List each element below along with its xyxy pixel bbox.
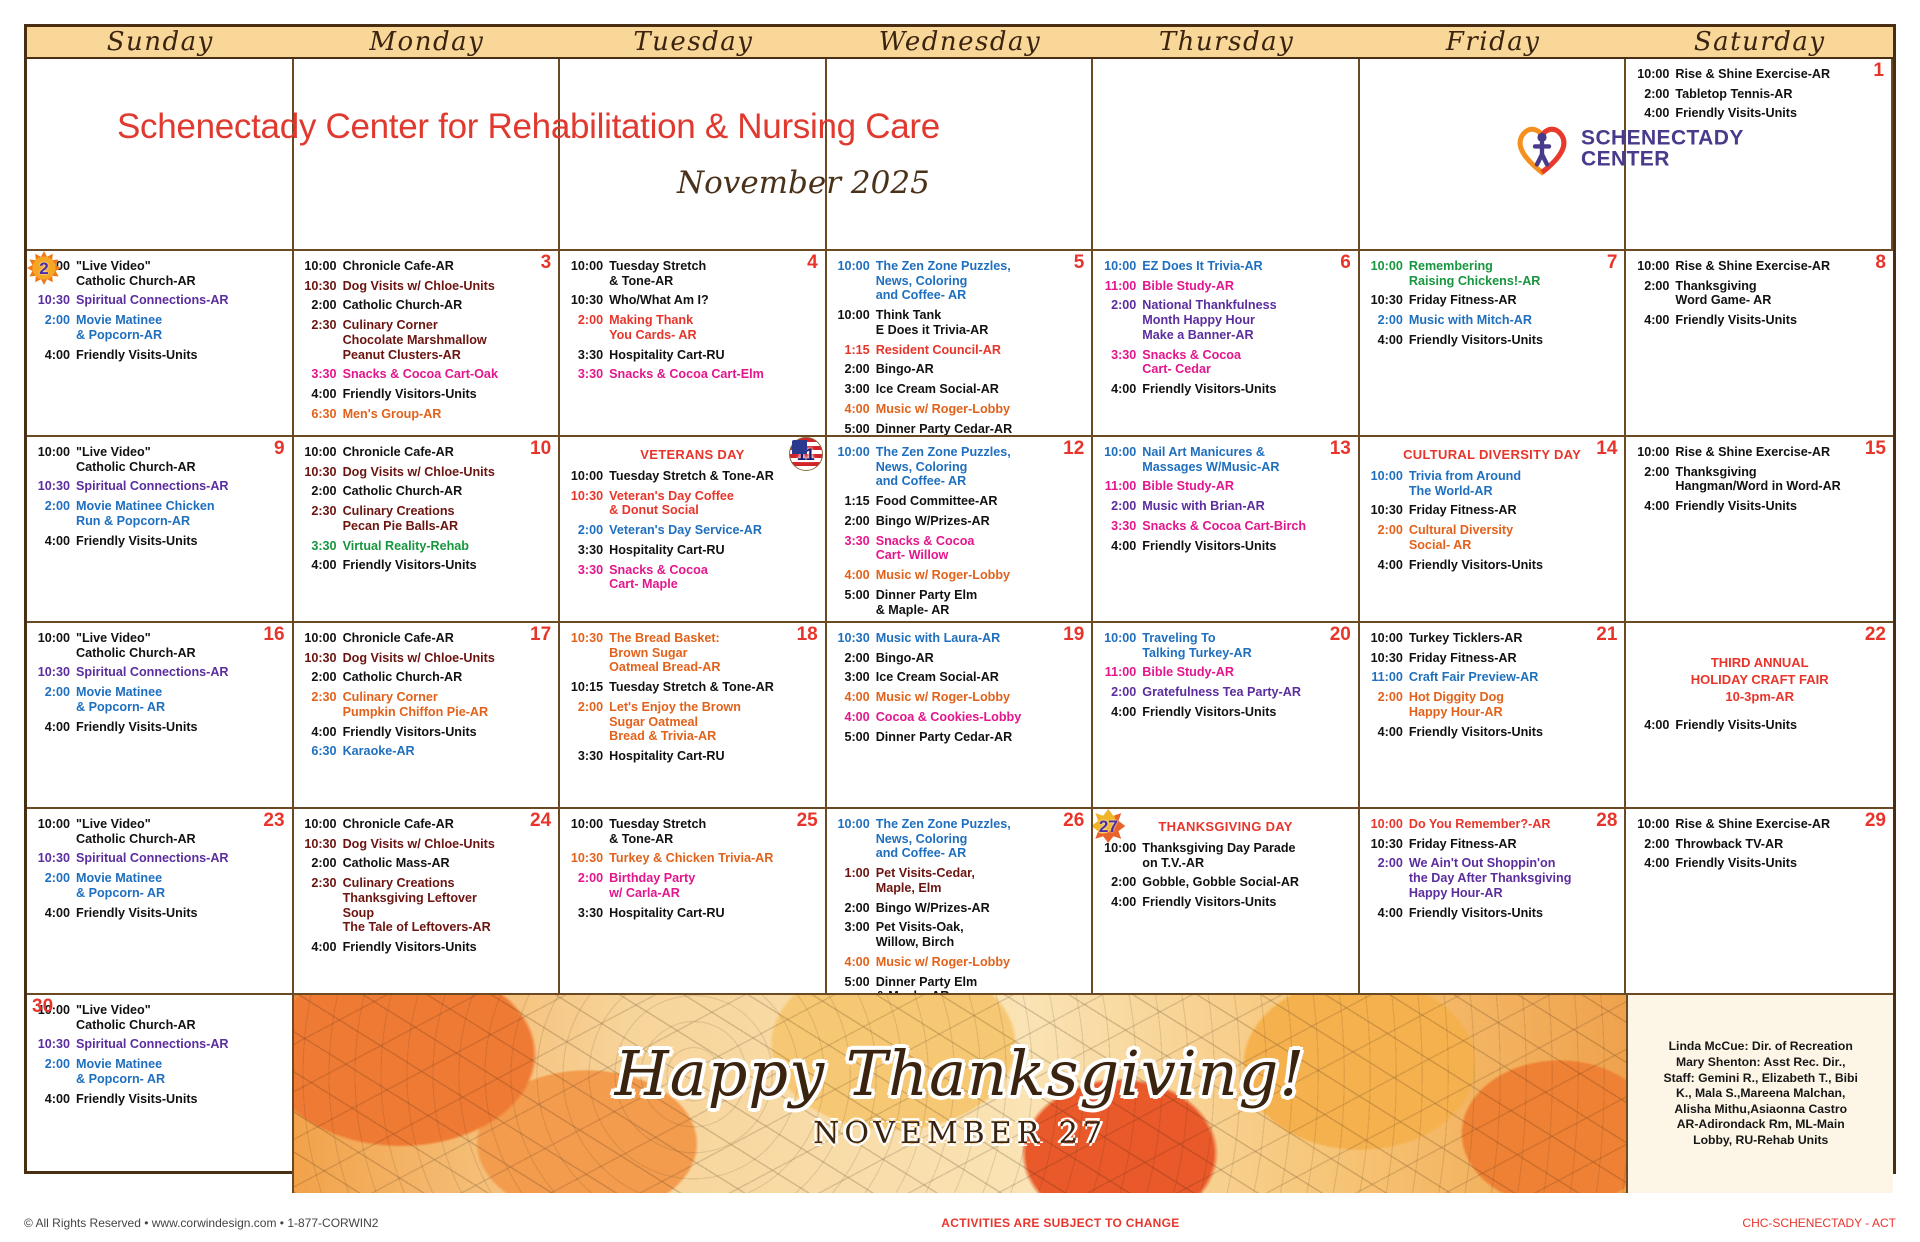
event-item[interactable]: 2:00Catholic Church-AR: [299, 298, 554, 313]
day-cell-15[interactable]: 1510:00Rise & Shine Exercise-AR2:00Thank…: [1626, 437, 1893, 621]
event-description: Tuesday Stretch& Tone-AR: [609, 259, 820, 288]
event-line: The Zen Zone Puzzles,: [876, 445, 1087, 460]
event-item[interactable]: 2:00ThanksgivingHangman/Word in Word-AR: [1631, 465, 1888, 494]
event-item[interactable]: 4:00Friendly Visits-Units: [32, 534, 287, 549]
event-item[interactable]: 3:30Virtual Reality-Rehab: [299, 539, 554, 554]
event-line: Dinner Party Cedar-AR: [876, 422, 1087, 435]
event-item[interactable]: 2:00Movie Matinee ChickenRun & Popcorn-A…: [32, 499, 287, 528]
event-item[interactable]: 10:00"Live Video"Catholic Church-AR: [32, 259, 287, 288]
event-item[interactable]: 4:00Music w/ Roger-Lobby: [832, 402, 1087, 417]
event-item[interactable]: 4:00Friendly Visitors-Units: [1098, 705, 1353, 720]
event-item[interactable]: 3:30Hospitality Cart-RU: [565, 348, 820, 363]
event-item[interactable]: 4:00Friendly Visitors-Units: [1098, 539, 1353, 554]
event-time: 4:00: [1098, 705, 1142, 720]
calendar-week-2: 910:00"Live Video"Catholic Church-AR10:3…: [27, 437, 1893, 623]
event-line: Dinner Party Elm: [876, 975, 1087, 990]
event-item[interactable]: 10:30Dog Visits w/ Chloe-Units: [299, 279, 554, 294]
event-item[interactable]: 10:00Rise & Shine Exercise-AR: [1631, 445, 1888, 460]
event-description: Turkey & Chicken Trivia-AR: [609, 851, 820, 866]
day-cell-20[interactable]: 2010:00Traveling ToTalking Turkey-AR11:0…: [1093, 623, 1360, 807]
day-cell-18[interactable]: 1810:30The Bread Basket:Brown SugarOatme…: [560, 623, 827, 807]
event-item[interactable]: 2:00Catholic Church-AR: [299, 484, 554, 499]
event-line: Music with Laura-AR: [876, 631, 1087, 646]
event-description: The Zen Zone Puzzles,News, Coloringand C…: [876, 259, 1087, 303]
event-line: Bread & Trivia-AR: [609, 729, 820, 744]
event-time: 4:00: [299, 558, 343, 573]
event-description: Virtual Reality-Rehab: [343, 539, 554, 554]
event-time: 4:00: [1365, 333, 1409, 348]
event-item[interactable]: 2:00Bingo W/Prizes-AR: [832, 901, 1087, 916]
event-line: Tuesday Stretch & Tone-AR: [609, 469, 820, 484]
event-item[interactable]: 10:30Spiritual Connections-AR: [32, 1037, 287, 1052]
logo-line-2: CENTER: [1581, 148, 1744, 169]
calendar-week-1: 210:00"Live Video"Catholic Church-AR10:3…: [27, 251, 1893, 437]
day-cell-13[interactable]: 1310:00Nail Art Manicures &Massages W/Mu…: [1093, 437, 1360, 621]
event-description: Hospitality Cart-RU: [609, 749, 820, 764]
event-time: 10:00: [1365, 259, 1409, 288]
day-cell-29[interactable]: 2910:00Rise & Shine Exercise-AR2:00Throw…: [1626, 809, 1893, 993]
event-item[interactable]: 2:00Bingo-AR: [832, 362, 1087, 377]
event-item[interactable]: 10:15Tuesday Stretch & Tone-AR: [565, 680, 820, 695]
event-item[interactable]: 10:00Traveling ToTalking Turkey-AR: [1098, 631, 1353, 660]
event-time: 3:30: [565, 906, 609, 921]
event-item[interactable]: 10:00Chronicle Cafe-AR: [299, 445, 554, 460]
event-item[interactable]: 2:30Culinary CornerChocolate Marshmallow…: [299, 318, 554, 362]
day-cell-8[interactable]: 810:00Rise & Shine Exercise-AR2:00Thanks…: [1626, 251, 1893, 435]
event-line: Friendly Visits-Units: [1675, 718, 1888, 733]
event-item[interactable]: 3:00Ice Cream Social-AR: [832, 670, 1087, 685]
event-time: 10:30: [565, 489, 609, 518]
event-line: Friendly Visits-Units: [76, 348, 287, 363]
event-line: Pet Visits-Cedar,: [876, 866, 1087, 881]
event-item[interactable]: 2:00Movie Matinee& Popcorn-AR: [32, 313, 287, 342]
day-number: 7: [1607, 253, 1618, 272]
event-item[interactable]: 4:00Music w/ Roger-Lobby: [832, 568, 1087, 583]
event-description: Music with Laura-AR: [876, 631, 1087, 646]
event-description: Movie Matinee& Popcorn- AR: [76, 1057, 287, 1086]
event-description: Friendly Visits-Units: [1675, 499, 1888, 514]
event-list: 10:00Trivia from AroundThe World-AR10:30…: [1365, 469, 1620, 572]
event-line: Pumpkin Chiffon Pie-AR: [343, 705, 554, 720]
event-item[interactable]: 4:00Friendly Visitors-Units: [1365, 725, 1620, 740]
event-item[interactable]: 10:30Spiritual Connections-AR: [32, 665, 287, 680]
event-description: Friday Fitness-AR: [1409, 837, 1620, 852]
day-cell-30[interactable]: 3010:00"Live Video"Catholic Church-AR10:…: [27, 995, 294, 1193]
event-item[interactable]: 10:00The Zen Zone Puzzles,News, Coloring…: [832, 259, 1087, 303]
event-item[interactable]: 10:00Rise & Shine Exercise-AR: [1631, 817, 1888, 832]
event-item[interactable]: 2:00Music with Brian-AR: [1098, 499, 1353, 514]
day-number: 28: [1596, 811, 1617, 830]
event-item[interactable]: 4:00Music w/ Roger-Lobby: [832, 955, 1087, 970]
event-item[interactable]: 3:30Snacks & CocoaCart- Cedar: [1098, 348, 1353, 377]
event-description: Friendly Visitors-Units: [1142, 895, 1353, 910]
event-description: "Live Video"Catholic Church-AR: [76, 259, 287, 288]
day-number: 26: [1063, 811, 1084, 830]
day-cell-28[interactable]: 2810:00Do You Remember?-AR10:30Friday Fi…: [1360, 809, 1627, 993]
event-description: Friendly Visitors-Units: [1409, 558, 1620, 573]
event-description: Let's Enjoy the BrownSugar OatmealBread …: [609, 700, 820, 744]
event-item[interactable]: 4:00Friendly Visits-Units: [1631, 106, 1886, 121]
event-item[interactable]: 2:00Music with Mitch-AR: [1365, 313, 1620, 328]
day-cell-3[interactable]: 310:00Chronicle Cafe-AR10:30Dog Visits w…: [294, 251, 561, 435]
event-line: Month Happy Hour: [1142, 313, 1353, 328]
event-line: Spiritual Connections-AR: [76, 293, 287, 308]
event-line: Friendly Visits-Units: [1675, 313, 1888, 328]
event-line: Karaoke-AR: [343, 744, 554, 759]
event-item[interactable]: 4:00Music w/ Roger-Lobby: [832, 690, 1087, 705]
event-item[interactable]: 2:00Making ThankYou Cards- AR: [565, 313, 820, 342]
event-item[interactable]: 2:00Bingo-AR: [832, 651, 1087, 666]
event-time: 2:30: [299, 690, 343, 719]
event-item[interactable]: 10:00The Zen Zone Puzzles,News, Coloring…: [832, 817, 1087, 861]
event-item[interactable]: 4:00Friendly Visitors-Units: [1365, 558, 1620, 573]
footer-notice: ACTIVITIES ARE SUBJECT TO CHANGE: [941, 1216, 1179, 1230]
event-item[interactable]: 3:30Snacks & Cocoa Cart-Oak: [299, 367, 554, 382]
event-item[interactable]: 10:00Think TankE Does it Trivia-AR: [832, 308, 1087, 337]
event-item[interactable]: 3:30Hospitality Cart-RU: [565, 749, 820, 764]
day-cell-14[interactable]: 14CULTURAL DIVERSITY DAY10:00Trivia from…: [1360, 437, 1627, 621]
event-description: Hospitality Cart-RU: [609, 348, 820, 363]
event-item[interactable]: 10:00Tuesday Stretch & Tone-AR: [565, 469, 820, 484]
event-item[interactable]: 4:00Friendly Visits-Units: [32, 906, 287, 921]
event-time: 3:30: [565, 367, 609, 382]
day-cell-12[interactable]: 1210:00The Zen Zone Puzzles,News, Colori…: [827, 437, 1094, 621]
event-line: News, Coloring: [876, 460, 1087, 475]
event-item[interactable]: 2:00National ThankfulnessMonth Happy Hou…: [1098, 298, 1353, 342]
event-line: Snacks & Cocoa Cart-Birch: [1142, 519, 1353, 534]
event-time: 10:30: [565, 631, 609, 675]
event-item[interactable]: 11:00Craft Fair Preview-AR: [1365, 670, 1620, 685]
event-description: Veteran's Day Coffee& Donut Social: [609, 489, 820, 518]
event-time: 2:00: [565, 871, 609, 900]
event-item[interactable]: 6:30Karaoke-AR: [299, 744, 554, 759]
event-description: Friendly Visits-Units: [76, 720, 287, 735]
day-cell-21[interactable]: 2110:00Turkey Ticklers-AR10:30Friday Fit…: [1360, 623, 1627, 807]
event-item[interactable]: 1:15Food Committee-AR: [832, 494, 1087, 509]
event-item[interactable]: 2:30Culinary CreationsPecan Pie Balls-AR: [299, 504, 554, 533]
event-description: Rise & Shine Exercise-AR: [1675, 445, 1888, 460]
event-item[interactable]: 10:00Turkey Ticklers-AR: [1365, 631, 1620, 646]
event-item[interactable]: 10:00"Live Video"Catholic Church-AR: [32, 631, 287, 660]
day-cell-9[interactable]: 910:00"Live Video"Catholic Church-AR10:3…: [27, 437, 294, 621]
event-line: Catholic Church-AR: [76, 274, 287, 289]
event-item[interactable]: 5:00Dinner Party Cedar-AR: [832, 730, 1087, 745]
event-list: 10:30The Bread Basket:Brown SugarOatmeal…: [565, 631, 820, 764]
day-cell-23[interactable]: 2310:00"Live Video"Catholic Church-AR10:…: [27, 809, 294, 993]
event-item[interactable]: 10:00Nail Art Manicures &Massages W/Musi…: [1098, 445, 1353, 474]
event-item[interactable]: 10:30Dog Visits w/ Chloe-Units: [299, 837, 554, 852]
event-description: Think TankE Does it Trivia-AR: [876, 308, 1087, 337]
event-description: Culinary CreationsPecan Pie Balls-AR: [343, 504, 554, 533]
event-description: Friendly Visits-Units: [76, 1092, 287, 1107]
event-line: Think Tank: [876, 308, 1087, 323]
event-line: Trivia from Around: [1409, 469, 1620, 484]
event-time: 4:00: [32, 1092, 76, 1107]
event-description: Friday Fitness-AR: [1409, 651, 1620, 666]
event-line: Spiritual Connections-AR: [76, 851, 287, 866]
event-item[interactable]: 10:30Spiritual Connections-AR: [32, 479, 287, 494]
day-cell-4[interactable]: 410:00Tuesday Stretch& Tone-AR10:30Who/W…: [560, 251, 827, 435]
event-item[interactable]: 10:30Spiritual Connections-AR: [32, 293, 287, 308]
event-item[interactable]: 4:00Friendly Visits-Units: [32, 720, 287, 735]
event-description: Hospitality Cart-RU: [609, 543, 820, 558]
event-item[interactable]: 2:30Culinary CornerPumpkin Chiffon Pie-A…: [299, 690, 554, 719]
event-line: Do You Remember?-AR: [1409, 817, 1620, 832]
event-line: Bible Study-AR: [1142, 279, 1353, 294]
event-line: Birthday Party: [609, 871, 820, 886]
event-item[interactable]: 4:00Friendly Visitors-Units: [299, 725, 554, 740]
event-item[interactable]: 10:00Tuesday Stretch& Tone-AR: [565, 259, 820, 288]
day-number: 3: [541, 253, 552, 272]
event-item[interactable]: 4:00Friendly Visits-Units: [1631, 718, 1888, 733]
event-list: 10:00The Zen Zone Puzzles,News, Coloring…: [832, 259, 1087, 435]
event-description: Rise & Shine Exercise-AR: [1675, 259, 1888, 274]
event-item[interactable]: 3:30Snacks & Cocoa Cart-Birch: [1098, 519, 1353, 534]
event-item[interactable]: 10:30Who/What Am I?: [565, 293, 820, 308]
event-line: Pecan Pie Balls-AR: [343, 519, 554, 534]
day-cell-24[interactable]: 2410:00Chronicle Cafe-AR10:30Dog Visits …: [294, 809, 561, 993]
event-list: 10:00Nail Art Manicures &Massages W/Musi…: [1098, 445, 1353, 553]
event-item[interactable]: 4:00Friendly Visits-Units: [1631, 856, 1888, 871]
event-item[interactable]: 1:15Resident Council-AR: [832, 343, 1087, 358]
day-cell-25[interactable]: 2510:00Tuesday Stretch& Tone-AR10:30Turk…: [560, 809, 827, 993]
event-line: Friday Fitness-AR: [1409, 293, 1620, 308]
event-line: Ice Cream Social-AR: [876, 382, 1087, 397]
event-time: 4:00: [299, 940, 343, 955]
event-item[interactable]: 6:30Men's Group-AR: [299, 407, 554, 422]
event-list: 10:00Thanksgiving Day Paradeon T.V.-AR2:…: [1098, 841, 1353, 910]
event-line: and Coffee- AR: [876, 846, 1087, 861]
event-item[interactable]: 4:00Friendly Visitors-Units: [1098, 382, 1353, 397]
event-item[interactable]: 4:00Friendly Visits-Units: [1631, 313, 1888, 328]
event-item[interactable]: 10:00Tuesday Stretch& Tone-AR: [565, 817, 820, 846]
event-time: 10:30: [565, 293, 609, 308]
event-item[interactable]: 10:00Chronicle Cafe-AR: [299, 259, 554, 274]
event-item[interactable]: 2:00Bingo W/Prizes-AR: [832, 514, 1087, 529]
event-line: Craft Fair Preview-AR: [1409, 670, 1620, 685]
event-time: 10:00: [1365, 469, 1409, 498]
event-description: Friendly Visits-Units: [76, 534, 287, 549]
event-list: 10:00RememberingRaising Chickens!-AR10:3…: [1365, 259, 1620, 348]
event-line: Friendly Visitors-Units: [1409, 906, 1620, 921]
day-cell-5[interactable]: 510:00The Zen Zone Puzzles,News, Colorin…: [827, 251, 1094, 435]
event-item[interactable]: 10:30Dog Visits w/ Chloe-Units: [299, 651, 554, 666]
footer-code: CHC-SCHENECTADY - ACT: [1742, 1216, 1896, 1230]
day-cell-10[interactable]: 1010:00Chronicle Cafe-AR10:30Dog Visits …: [294, 437, 561, 621]
event-line: Traveling To: [1142, 631, 1353, 646]
event-item[interactable]: 10:00Rise & Shine Exercise-AR: [1631, 259, 1888, 274]
event-item[interactable]: 10:00Rise & Shine Exercise-AR: [1631, 67, 1886, 82]
event-item[interactable]: 11:00Bible Study-AR: [1098, 279, 1353, 294]
event-description: Spiritual Connections-AR: [76, 293, 287, 308]
event-item[interactable]: 2:00Movie Matinee& Popcorn- AR: [32, 1057, 287, 1086]
event-time: 5:00: [832, 588, 876, 617]
event-line: Music w/ Roger-Lobby: [876, 402, 1087, 417]
event-time: 10:30: [32, 1037, 76, 1052]
event-item[interactable]: 5:00Dinner Party Cedar-AR: [832, 422, 1087, 435]
event-item[interactable]: 10:00"Live Video"Catholic Church-AR: [32, 817, 287, 846]
event-item[interactable]: 3:00Pet Visits-Oak,Willow, Birch: [832, 920, 1087, 949]
event-time: 10:15: [565, 680, 609, 695]
event-item[interactable]: 10:30Music with Laura-AR: [832, 631, 1087, 646]
event-item[interactable]: 10:00Trivia from AroundThe World-AR: [1365, 469, 1620, 498]
event-line: Veteran's Day Service-AR: [609, 523, 820, 538]
event-item[interactable]: 10:30Friday Fitness-AR: [1365, 293, 1620, 308]
event-line: Hangman/Word in Word-AR: [1675, 479, 1888, 494]
event-item[interactable]: 4:00Friendly Visits-Units: [32, 1092, 287, 1107]
event-time: 10:30: [299, 837, 343, 852]
event-time: 3:00: [832, 920, 876, 949]
event-time: 10:00: [1098, 259, 1142, 274]
event-item[interactable]: 2:00Movie Matinee& Popcorn- AR: [32, 685, 287, 714]
event-item[interactable]: 10:00Chronicle Cafe-AR: [299, 817, 554, 832]
day-banner: THANKSGIVING DAY: [1098, 819, 1353, 834]
event-line: Spiritual Connections-AR: [76, 665, 287, 680]
event-item[interactable]: 10:00RememberingRaising Chickens!-AR: [1365, 259, 1620, 288]
event-item[interactable]: 2:00Gratefulness Tea Party-AR: [1098, 685, 1353, 700]
event-item[interactable]: 4:00Friendly Visitors-Units: [299, 558, 554, 573]
calendar-page: SundayMondayTuesdayWednesdayThursdayFrid…: [0, 0, 1920, 1242]
event-item[interactable]: 10:00Do You Remember?-AR: [1365, 817, 1620, 832]
event-item[interactable]: 10:30Turkey & Chicken Trivia-AR: [565, 851, 820, 866]
event-time: 4:00: [32, 534, 76, 549]
day-cell-26[interactable]: 2610:00The Zen Zone Puzzles,News, Colori…: [827, 809, 1094, 993]
event-description: Friendly Visitors-Units: [1142, 539, 1353, 554]
event-item[interactable]: 10:00EZ Does It Trivia-AR: [1098, 259, 1353, 274]
event-time: 2:00: [1631, 87, 1675, 102]
event-line: Hospitality Cart-RU: [609, 348, 820, 363]
event-item[interactable]: 2:00Tabletop Tennis-AR: [1631, 87, 1886, 102]
event-item[interactable]: 10:00The Zen Zone Puzzles,News, Coloring…: [832, 445, 1087, 489]
thanksgiving-date: NOVEMBER 27: [813, 1116, 1107, 1151]
event-line: Culinary Creations: [343, 876, 554, 891]
day-banner: CULTURAL DIVERSITY DAY: [1365, 447, 1620, 462]
event-time: 2:00: [1631, 465, 1675, 494]
event-item[interactable]: 4:00Friendly Visitors-Units: [299, 387, 554, 402]
event-item[interactable]: 5:00Dinner Party Elm& Maple- AR: [832, 588, 1087, 617]
event-item[interactable]: 4:00Friendly Visits-Units: [32, 348, 287, 363]
staff-credit-line: Mary Shenton: Asst Rec. Dir.,: [1664, 1055, 1858, 1071]
event-line: Snacks & Cocoa: [876, 534, 1087, 549]
event-item[interactable]: 2:00Catholic Mass-AR: [299, 856, 554, 871]
event-line: The World-AR: [1409, 484, 1620, 499]
event-line: Friendly Visitors-Units: [1409, 558, 1620, 573]
event-line: Movie Matinee: [76, 871, 287, 886]
event-item[interactable]: 10:00"Live Video"Catholic Church-AR: [32, 445, 287, 474]
event-item[interactable]: 2:00Let's Enjoy the BrownSugar OatmealBr…: [565, 700, 820, 744]
event-item[interactable]: 4:00Friendly Visitors-Units: [1098, 895, 1353, 910]
event-item[interactable]: 1:00Pet Visits-Cedar,Maple, Elm: [832, 866, 1087, 895]
event-line: The Zen Zone Puzzles,: [876, 817, 1087, 832]
event-line: Bingo W/Prizes-AR: [876, 901, 1087, 916]
event-item[interactable]: 2:00We Ain't Out Shoppin'onthe Day After…: [1365, 856, 1620, 900]
event-description: Bingo-AR: [876, 651, 1087, 666]
event-item[interactable]: 4:00Friendly Visitors-Units: [299, 940, 554, 955]
event-item[interactable]: 2:00ThanksgivingWord Game- AR: [1631, 279, 1888, 308]
event-item[interactable]: 10:30The Bread Basket:Brown SugarOatmeal…: [565, 631, 820, 675]
event-line: Happy Hour-AR: [1409, 886, 1620, 901]
event-item[interactable]: 10:30Dog Visits w/ Chloe-Units: [299, 465, 554, 480]
day-number: 6: [1340, 253, 1351, 272]
event-item[interactable]: 2:00Hot Diggity DogHappy Hour-AR: [1365, 690, 1620, 719]
day-cell-22[interactable]: 22THIRD ANNUALHOLIDAY CRAFT FAIR10-3pm-A…: [1626, 623, 1893, 807]
event-item[interactable]: 3:30Snacks & CocoaCart- Willow: [832, 534, 1087, 563]
event-line: "Live Video": [76, 817, 287, 832]
event-item[interactable]: 2:00Movie Matinee& Popcorn- AR: [32, 871, 287, 900]
event-item[interactable]: 3:30Snacks & CocoaCart- Maple: [565, 563, 820, 592]
event-time: 4:00: [32, 720, 76, 735]
event-line: Friendly Visits-Units: [76, 906, 287, 921]
event-item[interactable]: 2:00Cultural DiversitySocial- AR: [1365, 523, 1620, 552]
event-description: Catholic Mass-AR: [343, 856, 554, 871]
event-item[interactable]: 11:00Bible Study-AR: [1098, 665, 1353, 680]
event-time: 1:00: [832, 866, 876, 895]
day-cell-6[interactable]: 610:00EZ Does It Trivia-AR11:00Bible Stu…: [1093, 251, 1360, 435]
event-item[interactable]: 10:30Friday Fitness-AR: [1365, 503, 1620, 518]
event-item[interactable]: 10:00"Live Video"Catholic Church-AR: [32, 1003, 287, 1032]
day-cell-27[interactable]: 27THANKSGIVING DAY10:00Thanksgiving Day …: [1093, 809, 1360, 993]
day-cell-2[interactable]: 210:00"Live Video"Catholic Church-AR10:3…: [27, 251, 294, 435]
event-line: Brown Sugar: [609, 646, 820, 661]
event-item[interactable]: 3:00Ice Cream Social-AR: [832, 382, 1087, 397]
event-list: 10:00Rise & Shine Exercise-AR2:00Throwba…: [1631, 817, 1888, 871]
day-cell-16[interactable]: 1610:00"Live Video"Catholic Church-AR10:…: [27, 623, 294, 807]
event-description: RememberingRaising Chickens!-AR: [1409, 259, 1620, 288]
event-item[interactable]: 2:00Veteran's Day Service-AR: [565, 523, 820, 538]
event-line: Friendly Visits-Units: [1675, 499, 1888, 514]
event-item[interactable]: 10:30Veteran's Day Coffee& Donut Social: [565, 489, 820, 518]
event-item[interactable]: 2:00Catholic Church-AR: [299, 670, 554, 685]
day-number: 10: [530, 439, 551, 458]
event-item[interactable]: 4:00Friendly Visits-Units: [1631, 499, 1888, 514]
event-line: Music w/ Roger-Lobby: [876, 690, 1087, 705]
event-description: Craft Fair Preview-AR: [1409, 670, 1620, 685]
event-time: 10:30: [299, 465, 343, 480]
event-item[interactable]: 11:00Bible Study-AR: [1098, 479, 1353, 494]
event-item[interactable]: 4:00Friendly Visitors-Units: [1365, 333, 1620, 348]
day-cell-7[interactable]: 710:00RememberingRaising Chickens!-AR10:…: [1360, 251, 1627, 435]
day-cell-19[interactable]: 1910:30Music with Laura-AR2:00Bingo-AR3:…: [827, 623, 1094, 807]
day-number: 15: [1865, 439, 1886, 458]
event-item[interactable]: 10:30Spiritual Connections-AR: [32, 851, 287, 866]
event-item[interactable]: 3:30Hospitality Cart-RU: [565, 906, 820, 921]
event-line: Movie Matinee: [76, 1057, 287, 1072]
event-line: News, Coloring: [876, 274, 1087, 289]
event-item[interactable]: 2:30Culinary CreationsThanksgiving Lefto…: [299, 876, 554, 935]
event-line: Cart- Cedar: [1142, 362, 1353, 377]
event-time: 3:30: [1098, 519, 1142, 534]
event-item[interactable]: 10:30Friday Fitness-AR: [1365, 651, 1620, 666]
event-item[interactable]: 5:00Dinner Party Elm& Maple- AR: [832, 975, 1087, 993]
event-description: Music with Brian-AR: [1142, 499, 1353, 514]
day-cell-17[interactable]: 1710:00Chronicle Cafe-AR10:30Dog Visits …: [294, 623, 561, 807]
event-item[interactable]: 4:00Cocoa & Cookies-Lobby: [832, 710, 1087, 725]
event-item[interactable]: 2:00Gobble, Gobble Social-AR: [1098, 875, 1353, 890]
event-description: "Live Video"Catholic Church-AR: [76, 817, 287, 846]
event-item[interactable]: 10:00Thanksgiving Day Paradeon T.V.-AR: [1098, 841, 1353, 870]
event-line: Thanksgiving: [1675, 465, 1888, 480]
event-time: 1:15: [832, 343, 876, 358]
event-item[interactable]: 3:30Hospitality Cart-RU: [565, 543, 820, 558]
event-line: & Tone-AR: [609, 274, 820, 289]
event-item[interactable]: 2:00Throwback TV-AR: [1631, 837, 1888, 852]
day-cell-11[interactable]: 11VETERANS DAY10:00Tuesday Stretch & Ton…: [560, 437, 827, 621]
event-item[interactable]: 10:00Chronicle Cafe-AR: [299, 631, 554, 646]
event-item[interactable]: 3:30Snacks & Cocoa Cart-Elm: [565, 367, 820, 382]
event-item[interactable]: 10:30Friday Fitness-AR: [1365, 837, 1620, 852]
event-item[interactable]: 2:00Birthday Partyw/ Carla-AR: [565, 871, 820, 900]
event-item[interactable]: 4:00Friendly Visitors-Units: [1365, 906, 1620, 921]
